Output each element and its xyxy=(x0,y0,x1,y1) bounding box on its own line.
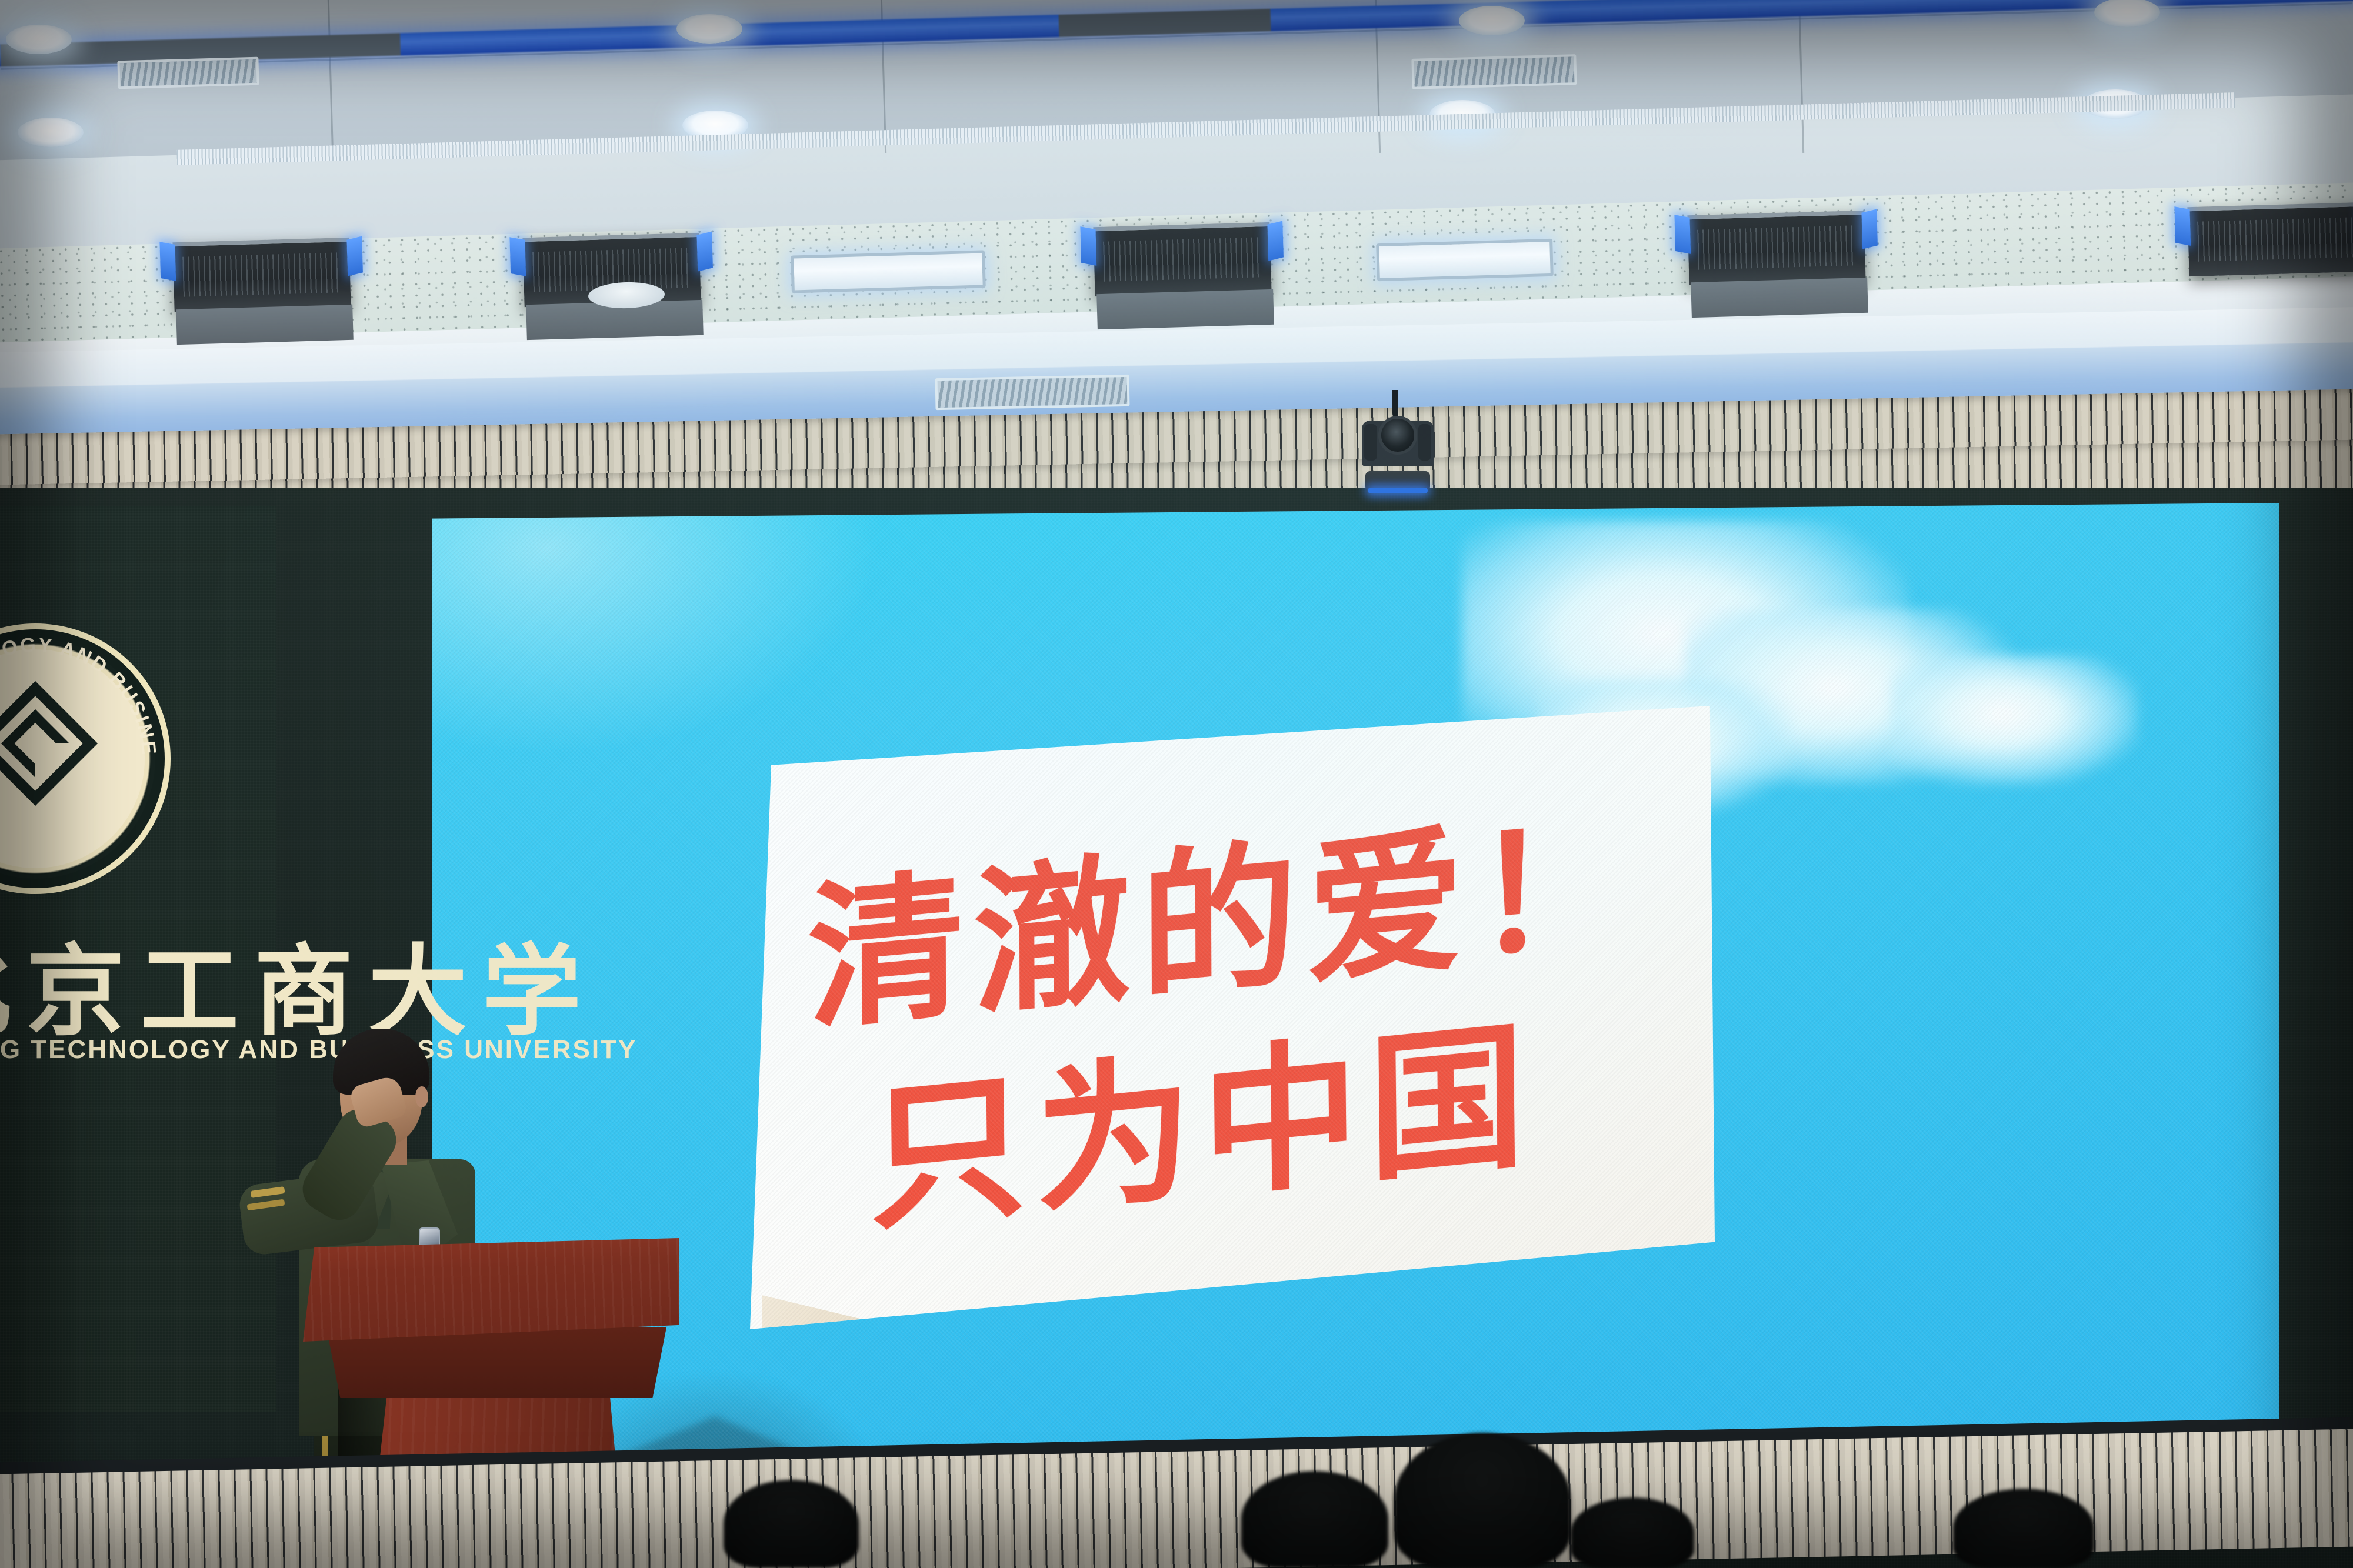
speaker-bracket xyxy=(159,242,176,281)
university-backdrop-panel: 1950 TECHNOLOGY AND BUSINESS UNIVERSITY … xyxy=(0,506,276,1412)
audience-head-silhouette xyxy=(1953,1489,2094,1568)
banner-fold xyxy=(762,1267,938,1337)
ear xyxy=(415,1086,428,1107)
camera-lens-icon xyxy=(1378,416,1417,455)
speaker-apron xyxy=(1096,289,1274,329)
ceiling-speaker-grille xyxy=(1687,211,1865,285)
linear-light-diffuser xyxy=(791,250,986,293)
recessed-downlight xyxy=(6,25,72,54)
ceiling-speaker-grille xyxy=(172,238,351,312)
audience-head-silhouette xyxy=(1571,1497,1694,1568)
ceiling-speaker-grille xyxy=(1093,222,1271,296)
recessed-downlight xyxy=(676,14,742,44)
lectern-top xyxy=(303,1238,679,1342)
speaker-apron xyxy=(176,305,354,345)
ceiling-speaker-grille xyxy=(2187,202,2353,276)
speaker-bracket xyxy=(509,237,526,276)
air-vent-grille xyxy=(1411,54,1577,89)
camera-cable xyxy=(1392,390,1398,419)
speaker-bracket xyxy=(2174,206,2191,246)
speaker-bracket xyxy=(346,236,363,276)
speaker-bracket xyxy=(1861,209,1878,249)
recessed-downlight xyxy=(1459,6,1525,35)
speaker-bracket xyxy=(696,231,713,271)
camera-led-indicator xyxy=(1368,488,1428,493)
screen-highlight xyxy=(432,503,891,762)
audience-head-silhouette xyxy=(1241,1471,1388,1568)
air-vent-grille xyxy=(935,375,1130,410)
speaker-bracket xyxy=(1674,215,1691,254)
recessed-downlight xyxy=(18,118,84,147)
photo-scene: 清澈的爱！ 只为中国 1950 TECHNOLOGY AND BUSINESS … xyxy=(0,0,2353,1568)
speaker-bracket xyxy=(1267,221,1284,261)
speaker-apron xyxy=(1691,278,1868,318)
university-crest: 1950 xyxy=(0,623,171,894)
cloud-shape xyxy=(1891,656,2138,785)
audience-head-silhouette xyxy=(724,1480,859,1568)
air-vent-grille xyxy=(117,57,259,89)
led-display-screen: 清澈的爱！ 只为中国 xyxy=(432,503,2279,1482)
slide-white-banner: 清澈的爱！ 只为中国 xyxy=(750,706,1715,1329)
linear-light-diffuser xyxy=(1376,239,1554,281)
banner-crease-line xyxy=(1415,1273,1756,1406)
audience-head-silhouette xyxy=(1394,1433,1571,1568)
speaker-bracket xyxy=(1080,226,1096,266)
ptz-camera xyxy=(1362,415,1434,490)
